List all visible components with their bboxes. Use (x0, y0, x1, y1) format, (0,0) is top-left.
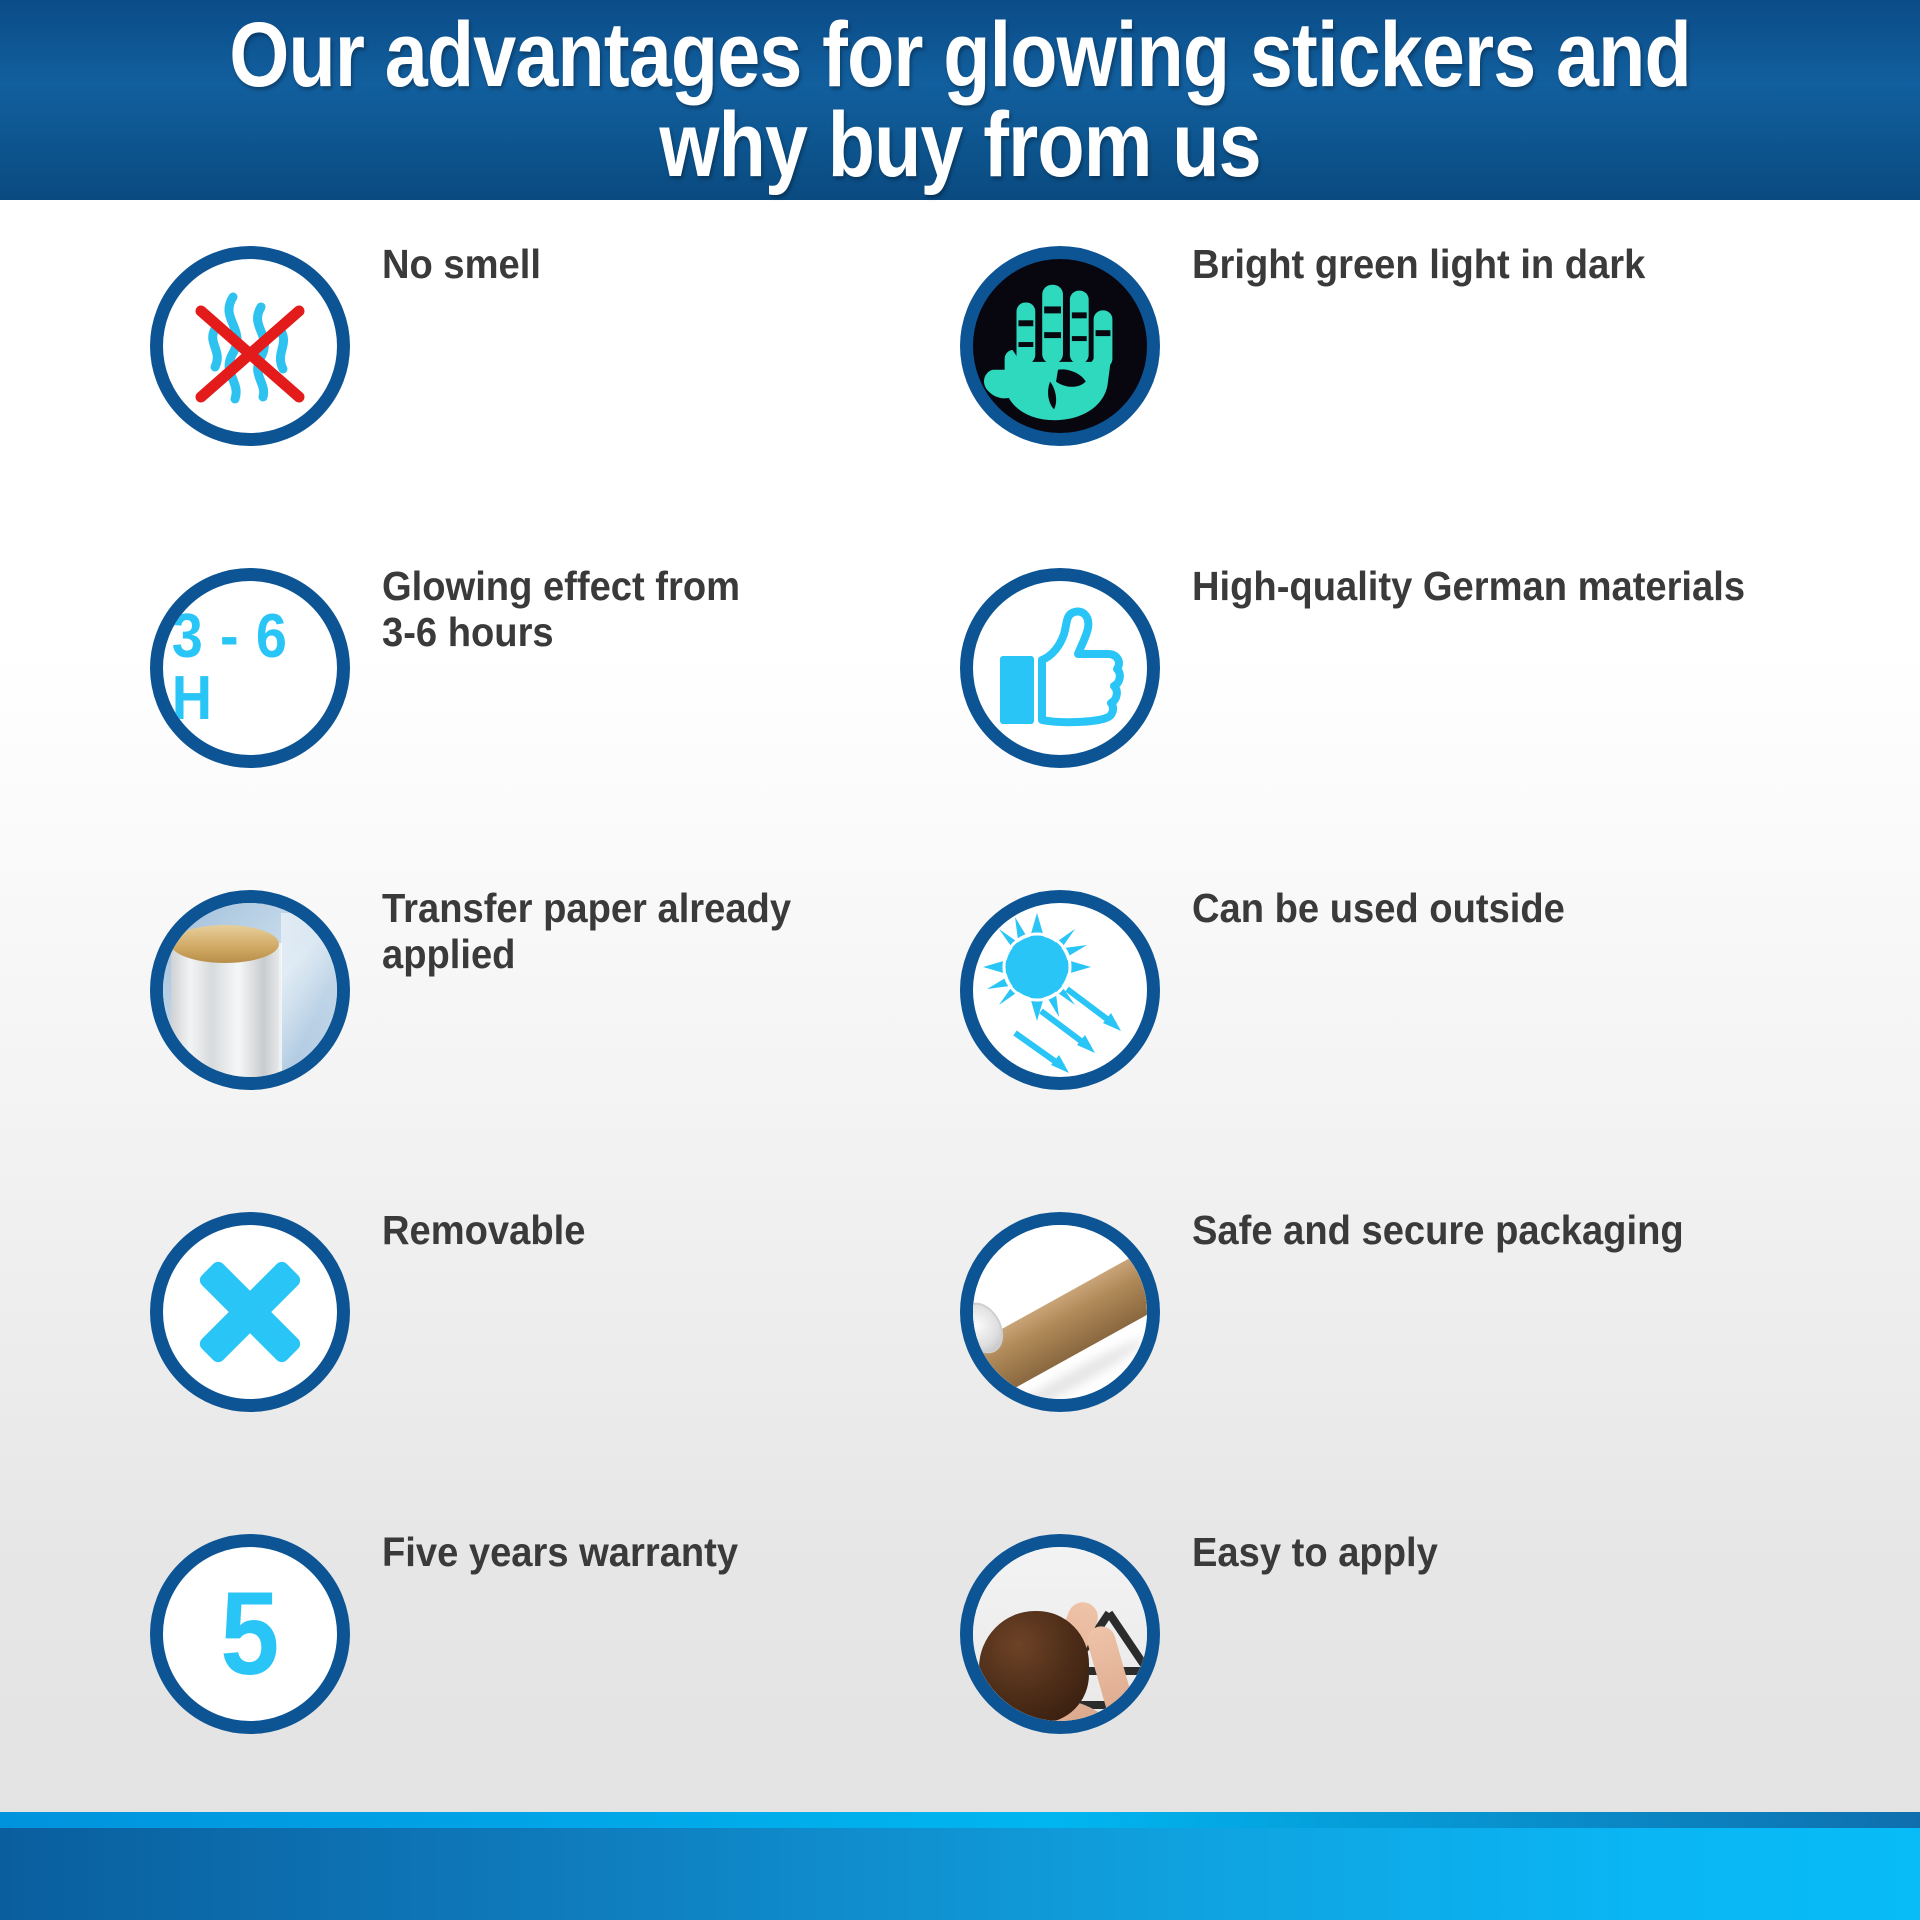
header-banner: Our advantages for glowing stickers and … (0, 0, 1920, 200)
feature-item-outdoor-use: Can be used outside (960, 844, 1760, 1166)
feature-item-glowing-effect-duration: 3 - 6 H Glowing effect from 3-6 hours (150, 522, 950, 844)
feature-label: Can be used outside (1192, 886, 1843, 932)
page-title: Our advantages for glowing stickers and … (212, 10, 1707, 190)
feature-row: 3 - 6 H Glowing effect from 3-6 hours Hi… (0, 522, 1920, 844)
feature-label: High-quality German materials (1192, 564, 1843, 610)
feature-row: Removable Safe and secure packaging (0, 1166, 1920, 1488)
clothing (972, 1727, 1098, 1734)
feature-label: Glowing effect from 3-6 hours (382, 564, 903, 656)
feature-row: 5 Five years warranty (0, 1488, 1920, 1810)
cross-mark-glyph (190, 1252, 310, 1372)
feature-item-easy-to-apply: Easy to apply (960, 1488, 1760, 1810)
feature-item-transfer-paper: Transfer paper already applied (150, 844, 950, 1166)
feature-label: Five years warranty (382, 1530, 903, 1576)
feature-row: Transfer paper already applied (0, 844, 1920, 1166)
feature-item-removable: Removable (150, 1166, 950, 1488)
glowing-handprint-icon (960, 246, 1160, 446)
feature-item-bright-green-light: Bright green light in dark (960, 200, 1760, 522)
woman-applying-decal-photo (960, 1534, 1160, 1734)
feature-label: Bright green light in dark (1192, 242, 1843, 288)
footer-banner (0, 1828, 1920, 1920)
thumbs-up-glyph (986, 594, 1134, 742)
footer-accent-strip (0, 1812, 1920, 1828)
mailing-tube-image (973, 1225, 1147, 1399)
film-sheen (281, 913, 350, 1090)
features-grid: No smell (0, 200, 1920, 1812)
sun-with-rays-icon (960, 890, 1160, 1090)
glowing-handprint-glyph (973, 258, 1147, 434)
feature-item-warranty: 5 Five years warranty (150, 1488, 950, 1810)
warranty-years-badge-icon: 5 (150, 1534, 350, 1734)
warranty-years-text: 5 (220, 1575, 279, 1693)
feature-label: Transfer paper already applied (382, 886, 903, 978)
sun-with-rays-glyph (975, 905, 1145, 1075)
feature-row: No smell (0, 200, 1920, 522)
hair (979, 1611, 1089, 1723)
feature-label: Removable (382, 1208, 903, 1254)
feature-label: Easy to apply (1192, 1530, 1843, 1576)
cross-mark-icon (150, 1212, 350, 1412)
smell-crossed-out-icon (150, 246, 350, 446)
duration-badge-icon: 3 - 6 H (150, 568, 350, 768)
film-sheet (171, 943, 282, 1090)
smell-crossed-out-glyph (175, 271, 325, 421)
feature-item-no-smell: No smell (150, 200, 950, 522)
thumbs-up-icon (960, 568, 1160, 768)
duration-badge-text: 3 - 6 H (172, 606, 329, 730)
roll-core (171, 925, 279, 963)
transfer-film-roll-photo (150, 890, 350, 1090)
feature-label: Safe and secure packaging (1192, 1208, 1843, 1254)
mailing-tube-photo (960, 1212, 1160, 1412)
woman-applying-decal-image (973, 1547, 1147, 1721)
feature-item-safe-packaging: Safe and secure packaging (960, 1166, 1760, 1488)
transfer-film-roll-image (163, 903, 337, 1077)
feature-label: No smell (382, 242, 903, 288)
feature-item-german-materials: High-quality German materials (960, 522, 1760, 844)
